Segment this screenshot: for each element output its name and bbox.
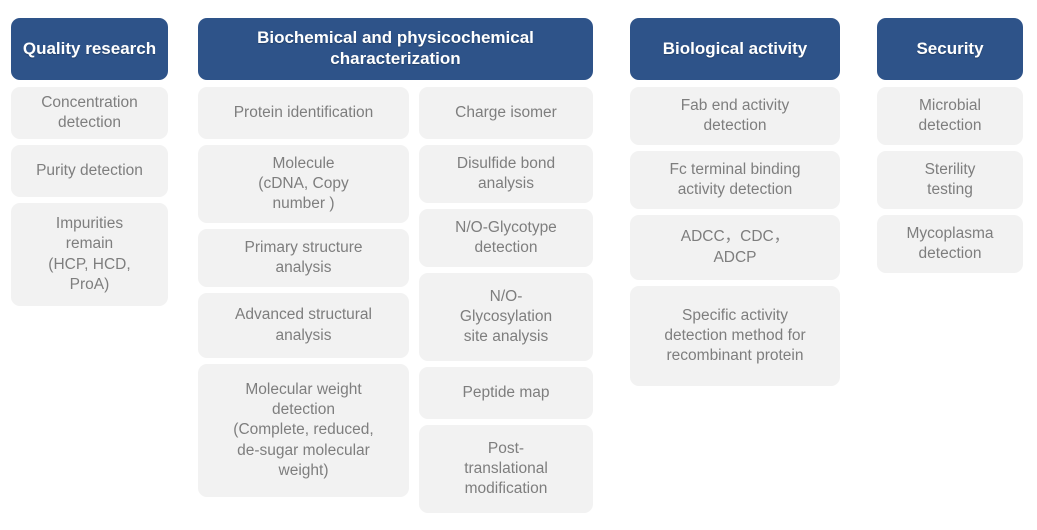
item-impurities-remain[interactable]: Impurities remain (HCP, HCD, ProA) [11, 203, 168, 306]
diagram-board: Quality research Concentration detection… [0, 0, 1037, 530]
category-column-security: Security Microbial detection Sterility t… [877, 18, 1023, 273]
category-column-quality-research: Quality research Concentration detection… [11, 18, 168, 306]
item-microbial-detection[interactable]: Microbial detection [877, 87, 1023, 145]
item-purity-detection[interactable]: Purity detection [11, 145, 168, 197]
category-column-biological-activity: Biological activity Fab end activity det… [630, 18, 840, 386]
item-molecular-weight-detection[interactable]: Molecular weight detection (Complete, re… [198, 364, 409, 497]
category-items-quality-research: Concentration detection Purity detection… [11, 87, 168, 306]
category-items-biological-activity: Fab end activity detection Fc terminal b… [630, 87, 840, 386]
item-post-translational-modification[interactable]: Post- translational modification [419, 425, 593, 513]
item-concentration-detection[interactable]: Concentration detection [11, 87, 168, 139]
item-primary-structure-analysis[interactable]: Primary structure analysis [198, 229, 409, 287]
category-header-quality-research[interactable]: Quality research [11, 18, 168, 80]
category-header-biological-activity[interactable]: Biological activity [630, 18, 840, 80]
item-mycoplasma-detection[interactable]: Mycoplasma detection [877, 215, 1023, 273]
category-subcolumn-biochemical-right: Charge isomer Disulfide bond analysis N/… [419, 87, 593, 513]
category-items-security: Microbial detection Sterility testing My… [877, 87, 1023, 273]
item-peptide-map[interactable]: Peptide map [419, 367, 593, 419]
category-subcolumn-biochemical-left: Protein identification Molecule (cDNA, C… [198, 87, 409, 513]
item-adcc-cdc-adcp[interactable]: ADCC，CDC， ADCP [630, 215, 840, 280]
category-items-biochemical-characterization: Protein identification Molecule (cDNA, C… [198, 87, 593, 513]
item-sterility-testing[interactable]: Sterility testing [877, 151, 1023, 209]
item-fab-end-activity-detection[interactable]: Fab end activity detection [630, 87, 840, 145]
category-column-biochemical-characterization: Biochemical and physicochemical characte… [198, 18, 593, 513]
item-no-glycotype-detection[interactable]: N/O-Glycotype detection [419, 209, 593, 267]
category-header-biochemical-characterization[interactable]: Biochemical and physicochemical characte… [198, 18, 593, 80]
item-specific-activity-detection-recombinant-protein[interactable]: Specific activity detection method for r… [630, 286, 840, 386]
item-no-glycosylation-site-analysis[interactable]: N/O- Glycosylation site analysis [419, 273, 593, 361]
item-molecule-cdna-copy-number[interactable]: Molecule (cDNA, Copy number ) [198, 145, 409, 223]
item-disulfide-bond-analysis[interactable]: Disulfide bond analysis [419, 145, 593, 203]
item-advanced-structural-analysis[interactable]: Advanced structural analysis [198, 293, 409, 358]
item-fc-terminal-binding-activity-detection[interactable]: Fc terminal binding activity detection [630, 151, 840, 209]
item-charge-isomer[interactable]: Charge isomer [419, 87, 593, 139]
category-header-security[interactable]: Security [877, 18, 1023, 80]
item-protein-identification[interactable]: Protein identification [198, 87, 409, 139]
